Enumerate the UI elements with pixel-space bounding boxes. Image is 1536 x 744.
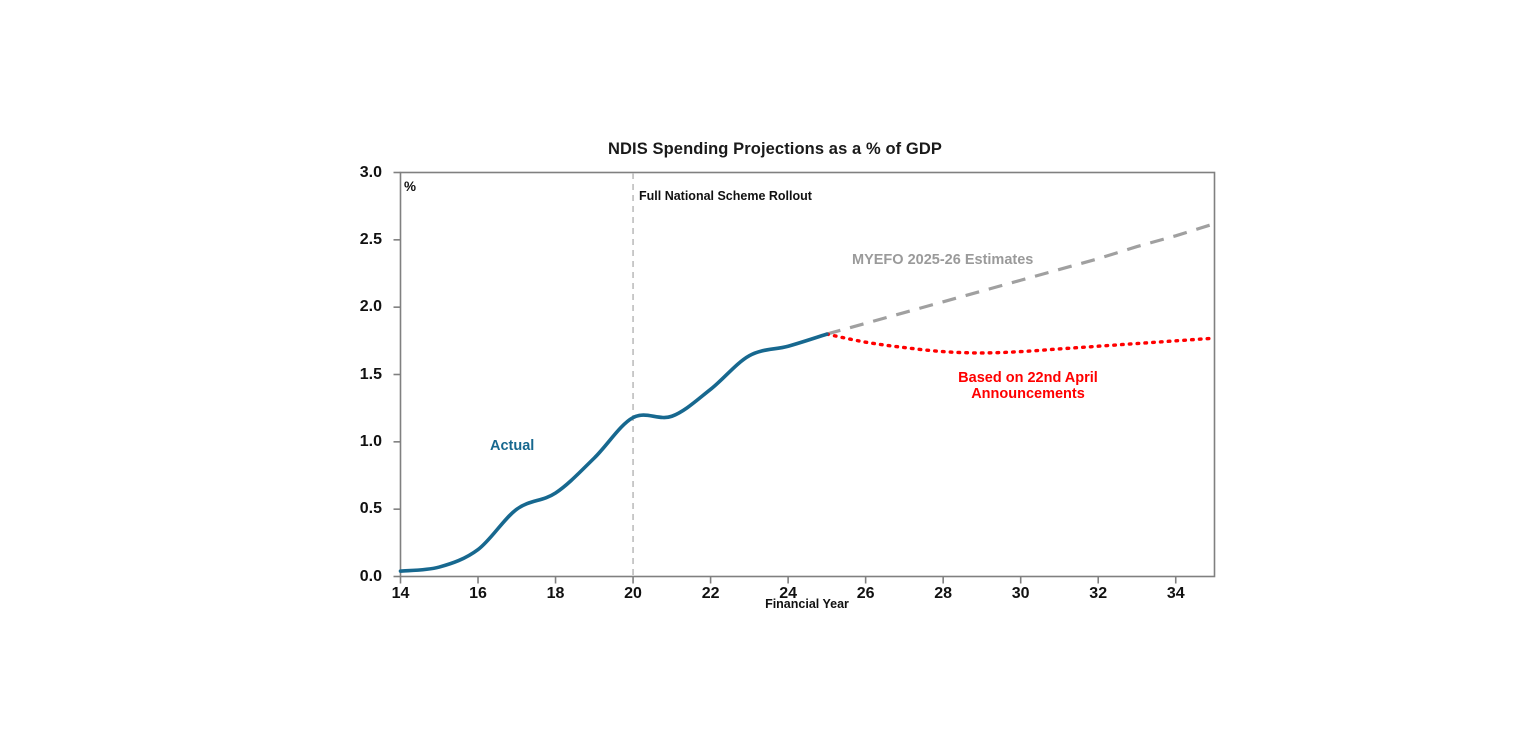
- myefo-annotation: MYEFO 2025-26 Estimates: [852, 252, 1033, 268]
- actual-annotation: Actual: [490, 438, 534, 454]
- y-tick-label: 2.5: [330, 231, 382, 249]
- y-tick-label: 0.0: [330, 568, 382, 586]
- x-axis-title: Financial Year: [400, 597, 1214, 611]
- plot-canvas: [0, 0, 1536, 744]
- y-tick-label: 0.5: [330, 500, 382, 518]
- y-axis-unit-label: %: [404, 179, 416, 194]
- y-axis-ticks: [394, 173, 401, 577]
- announcements-line-2: Announcements: [930, 386, 1126, 402]
- y-tick-label: 1.0: [330, 433, 382, 451]
- announcements-line-1: Based on 22nd April: [930, 370, 1126, 386]
- y-tick-label: 1.5: [330, 366, 382, 384]
- chart-figure: NDIS Spending Projections as a % of GDP …: [0, 0, 1536, 744]
- x-axis-ticks: [401, 577, 1176, 584]
- announcements-annotation: Based on 22nd April Announcements: [930, 370, 1126, 402]
- y-axis-labels: 0.00.51.01.52.02.53.0: [330, 0, 382, 744]
- y-tick-label: 3.0: [330, 164, 382, 182]
- rollout-annotation: Full National Scheme Rollout: [639, 189, 812, 203]
- y-tick-label: 2.0: [330, 298, 382, 316]
